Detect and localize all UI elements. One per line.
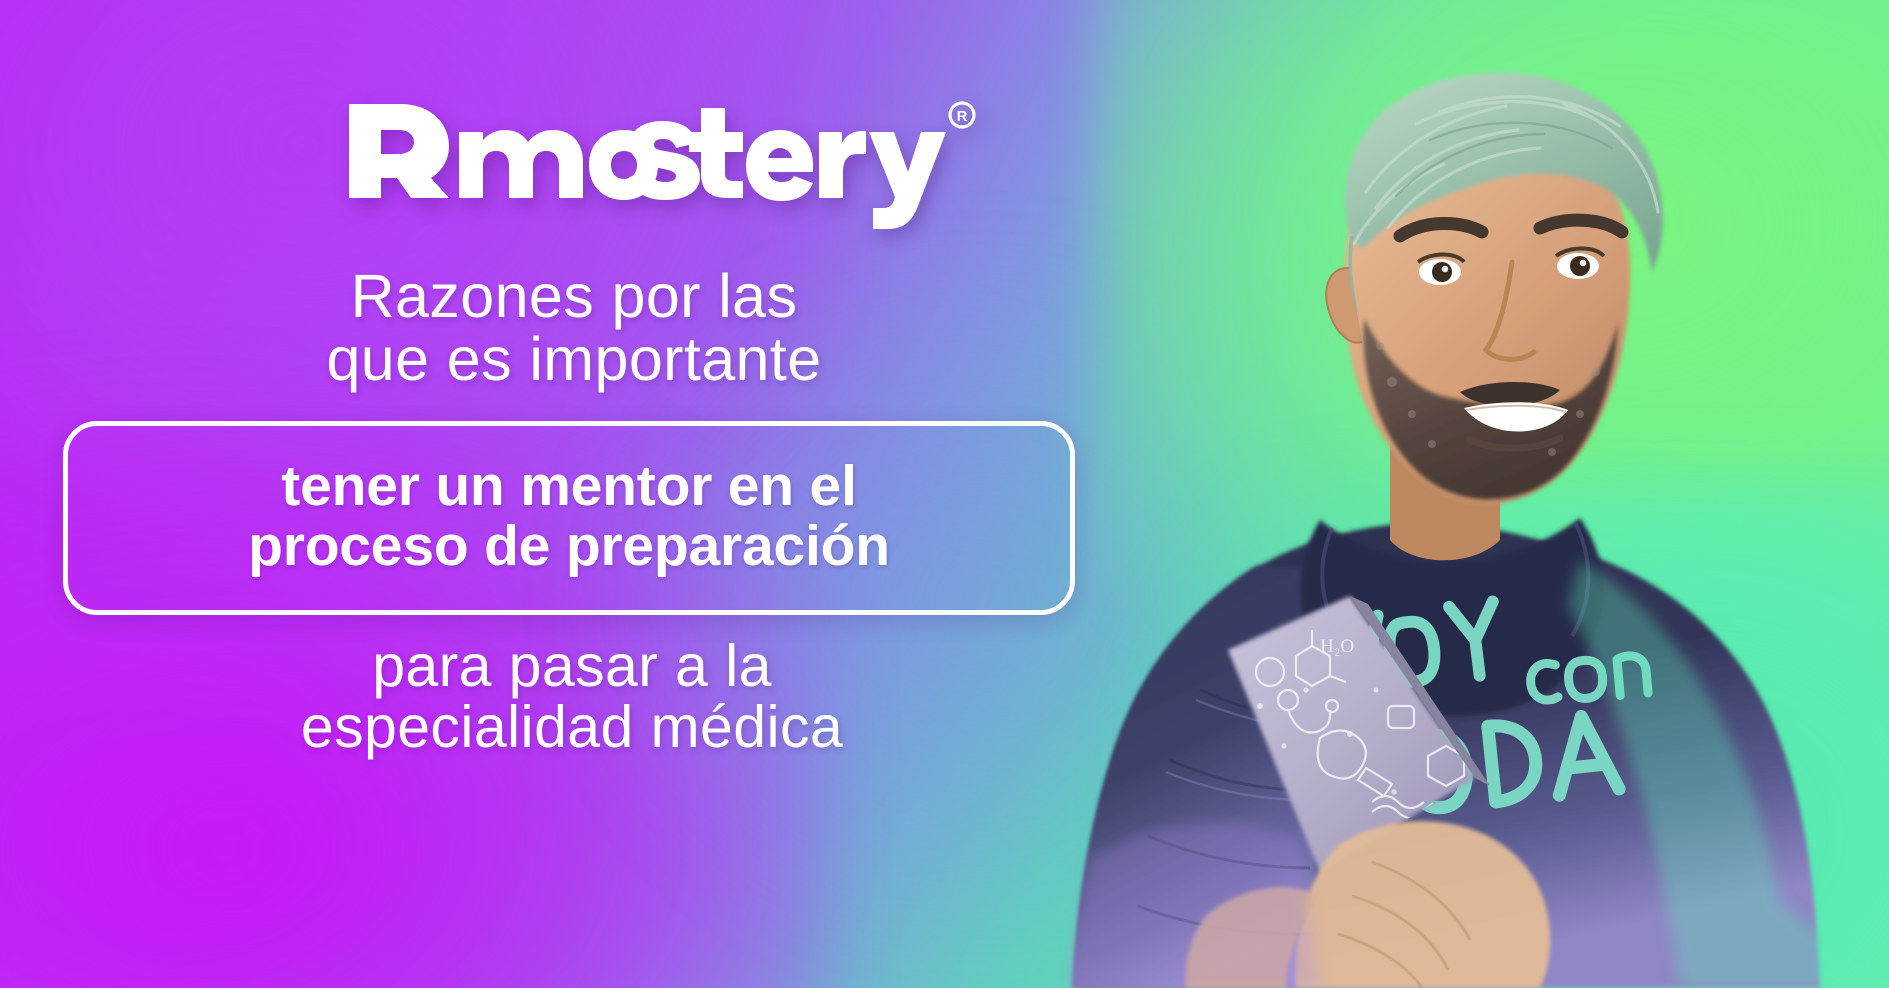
notebook-doodle-label: H₂O — [1320, 636, 1354, 657]
emphasis-text: tener un mentor en el proceso de prepara… — [248, 456, 890, 577]
presenter-photo: H₂O — [1020, 0, 1889, 988]
emphasis-box: tener un mentor en el proceso de prepara… — [63, 421, 1075, 615]
svg-text:R: R — [957, 108, 968, 125]
promo-banner: H₂O — [0, 0, 1889, 988]
headline-bottom: para pasar a la especialidad médica — [0, 636, 1130, 759]
logo-r-mark — [349, 104, 449, 198]
brand-logo[interactable]: R — [345, 98, 815, 198]
headline-top: Razones por las que es importante — [0, 265, 1130, 392]
logo-wordmark — [459, 108, 813, 201]
